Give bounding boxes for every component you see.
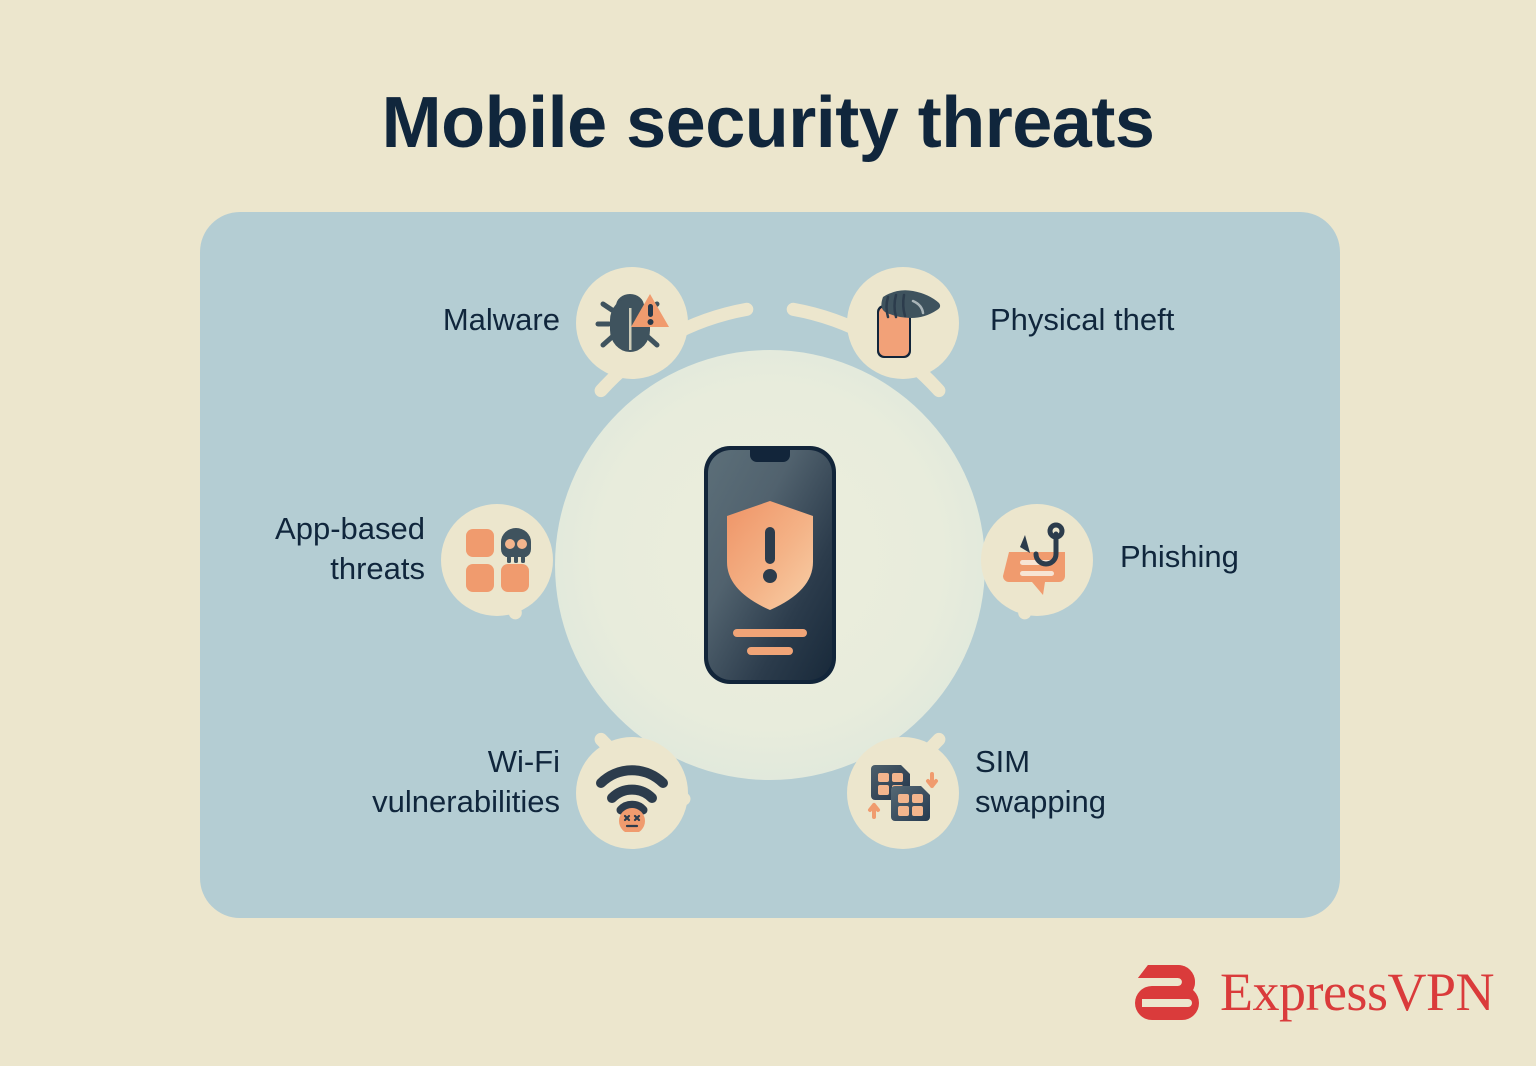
threat-label-app-based: App-based threats xyxy=(210,509,425,588)
infographic-panel: Malware Physical theft Phishing xyxy=(200,212,1340,918)
threat-label-sim-swapping: SIM swapping xyxy=(975,742,1235,821)
expressvpn-wordmark: ExpressVPN xyxy=(1220,965,1494,1019)
hand-grabbing-phone-icon xyxy=(863,283,943,363)
threat-node-wifi[interactable] xyxy=(576,737,688,849)
app-grid-skull-icon xyxy=(458,521,536,599)
threat-node-sim-swapping[interactable] xyxy=(847,737,959,849)
threat-node-app-based[interactable] xyxy=(441,504,553,616)
threat-label-phishing: Phishing xyxy=(1120,537,1330,577)
speech-bubble-fishhook-icon xyxy=(997,520,1077,600)
sim-card-swap-icon xyxy=(863,753,943,833)
threat-label-physical-theft: Physical theft xyxy=(990,300,1330,340)
bug-warning-icon xyxy=(593,284,671,362)
page-title: Mobile security threats xyxy=(0,84,1536,163)
threat-node-malware[interactable] xyxy=(576,267,688,379)
expressvpn-logo[interactable]: ExpressVPN xyxy=(1128,955,1494,1029)
threat-label-wifi: Wi-Fi vulnerabilities xyxy=(230,742,560,821)
expressvpn-e-logo-icon xyxy=(1128,955,1202,1029)
phone-shield-alert-icon xyxy=(703,445,837,685)
wifi-dead-signal-icon xyxy=(593,754,671,832)
threat-label-malware: Malware xyxy=(230,300,560,340)
threat-node-phishing[interactable] xyxy=(981,504,1093,616)
threat-node-physical-theft[interactable] xyxy=(847,267,959,379)
